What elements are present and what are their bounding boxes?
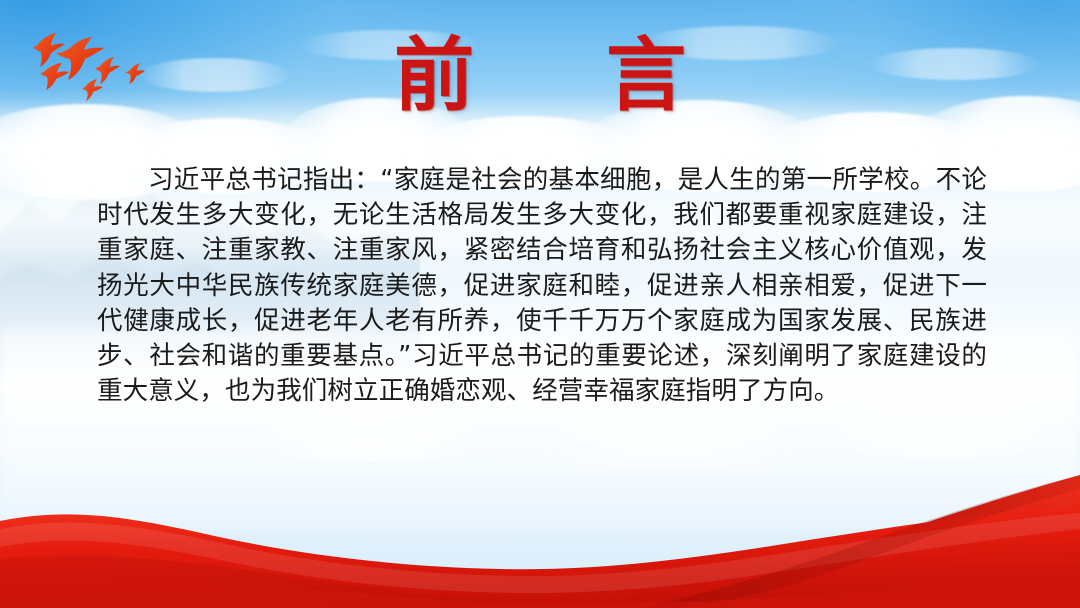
slide-canvas: 前 言 习近平总书记指出：“家庭是社会的基本细胞，是人生的第一所学校。不论时代发…: [0, 0, 1080, 608]
cloud-puff-small: [70, 126, 166, 166]
cloud-puff-lower: [520, 416, 820, 468]
page-title: 前 言: [0, 28, 1080, 124]
cloud-puff-lower: [240, 406, 500, 462]
red-ribbon-decoration: [0, 463, 1080, 608]
preface-paragraph: 习近平总书记指出：“家庭是社会的基本细胞，是人生的第一所学校。不论时代发生多大变…: [97, 163, 987, 409]
preface-body-text: 习近平总书记指出：“家庭是社会的基本细胞，是人生的第一所学校。不论时代发生多大变…: [97, 163, 987, 409]
